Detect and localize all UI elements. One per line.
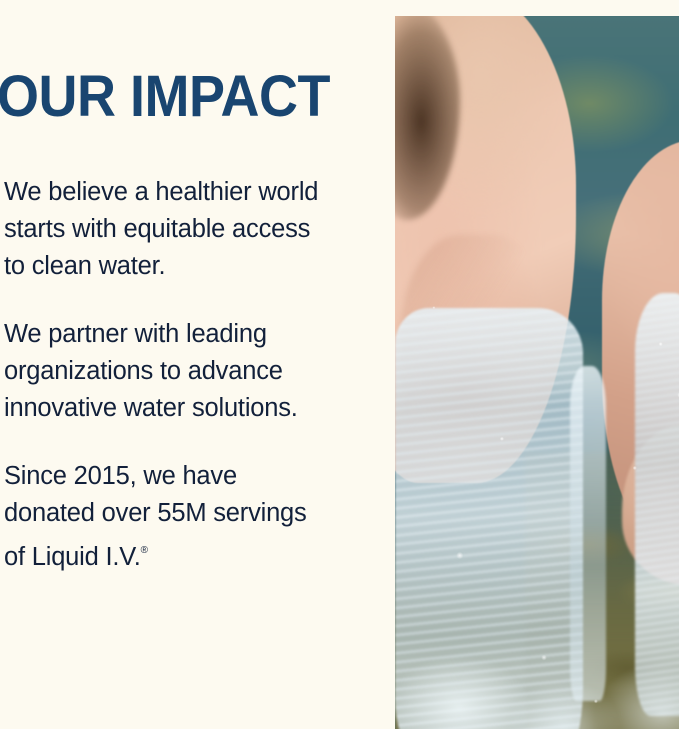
page-title: OUR IMPACT (0, 68, 330, 126)
water-splash (395, 643, 679, 729)
left-cupped-hand (395, 16, 576, 483)
wrist-shadow (395, 16, 460, 220)
impact-paragraph-belief: We believe a healthier world starts with… (4, 174, 334, 285)
right-cupped-hand (602, 140, 679, 563)
center-water-stream (570, 366, 606, 701)
water-droplets (395, 16, 679, 729)
palm-crease-shading (401, 235, 550, 483)
blurred-river-background (395, 16, 679, 729)
donations-text: Since 2015, we have donated over 55M ser… (4, 462, 307, 571)
right-hand-fingers (622, 424, 679, 584)
our-impact-banner: OUR IMPACT We believe a healthier world … (0, 0, 679, 729)
main-water-stream (395, 308, 583, 729)
hands-water-photo (395, 16, 679, 729)
impact-paragraph-partners: We partner with leading organizations to… (4, 316, 334, 427)
registered-trademark-icon: ® (141, 545, 148, 556)
impact-paragraph-donations: Since 2015, we have donated over 55M ser… (4, 458, 334, 576)
riverbed-stones (525, 453, 679, 729)
right-water-stream (635, 293, 679, 716)
text-panel: OUR IMPACT We believe a healthier world … (0, 0, 355, 729)
body-copy: We believe a healthier world starts with… (4, 174, 334, 576)
